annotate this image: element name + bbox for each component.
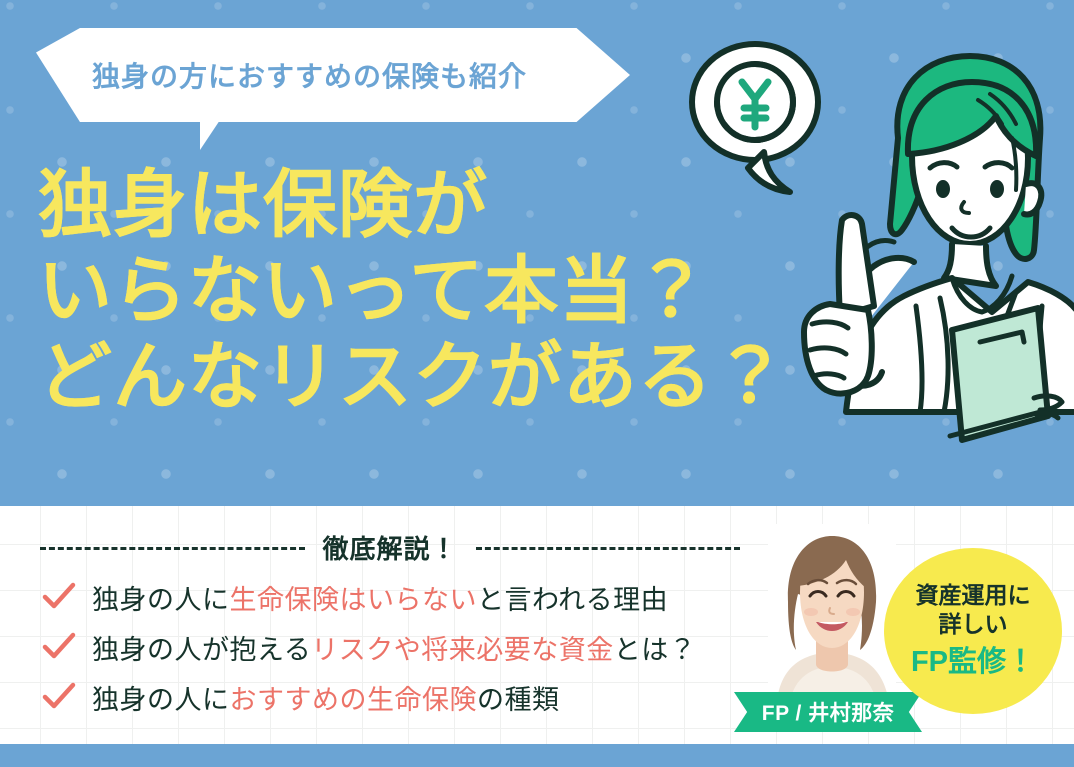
list-item-post: とは？ [614,635,697,665]
fp-name-ribbon: FP / 井村那奈 [734,692,922,732]
fp-portrait-photo [768,524,896,710]
checklist: 独身の人に生命保険はいらないと言われる理由 独身の人が抱えるリスクや将来必要な資… [42,572,822,722]
thumbnail-banner: 独身の方におすすめの保険も紹介 独身は保険が いらないって本当？ どんなリスクが… [0,0,1074,767]
fp-name-label: FP / 井村那奈 [762,697,894,727]
list-item-pre: 独身の人に [92,685,230,715]
list-item-post: の種類 [477,685,560,715]
list-item-text: 独身の人が抱えるリスクや将来必要な資金とは？ [92,628,696,667]
list-item-highlight: 生命保険はいらない [230,585,478,615]
list-item-text: 独身の人に生命保険はいらないと言われる理由 [92,578,668,617]
list-item-highlight: リスクや将来必要な資金 [311,635,614,665]
list-item-text: 独身の人におすすめの生命保険の種類 [92,678,560,717]
list-item: 独身の人が抱えるリスクや将来必要な資金とは？ [42,622,822,672]
hero-section: 独身の方におすすめの保険も紹介 独身は保険が いらないって本当？ どんなリスクが… [0,0,1074,506]
subtitle-banner-label: 独身の方におすすめの保険も紹介 [92,55,527,95]
list-item: 独身の人に生命保険はいらないと言われる理由 [42,572,822,622]
badge-line-2: 詳しい [939,610,1008,639]
list-item-highlight: おすすめの生命保険 [230,685,478,715]
check-icon [42,680,76,714]
footer-bar [0,744,1074,767]
list-item-pre: 独身の人が抱える [92,635,311,665]
summary-panel: 徹底解説！ 独身の人に生命保険はいらないと言われる理由 独身の人が抱えるリスクや… [0,506,1074,744]
dashed-rule-left [40,547,305,550]
list-item-pre: 独身の人に [92,585,230,615]
subtitle-banner: 独身の方におすすめの保険も紹介 [36,28,630,122]
badge-line-1: 資産運用に [916,581,1031,610]
badge-line-3: FP監修！ [911,644,1035,681]
check-icon [42,580,76,614]
dashed-rule-right [476,547,741,550]
list-item-post: と言われる理由 [477,585,668,615]
check-icon [42,630,76,664]
female-advisor-illustration [660,6,1074,506]
fp-supervision-badge: 資産運用に 詳しい FP監修！ [884,548,1062,714]
list-item: 独身の人におすすめの生命保険の種類 [42,672,822,722]
kicker-label: 徹底解説！ [323,529,458,566]
kicker-row: 徹底解説！ [40,530,740,564]
banner-tail-decoration [200,120,220,150]
